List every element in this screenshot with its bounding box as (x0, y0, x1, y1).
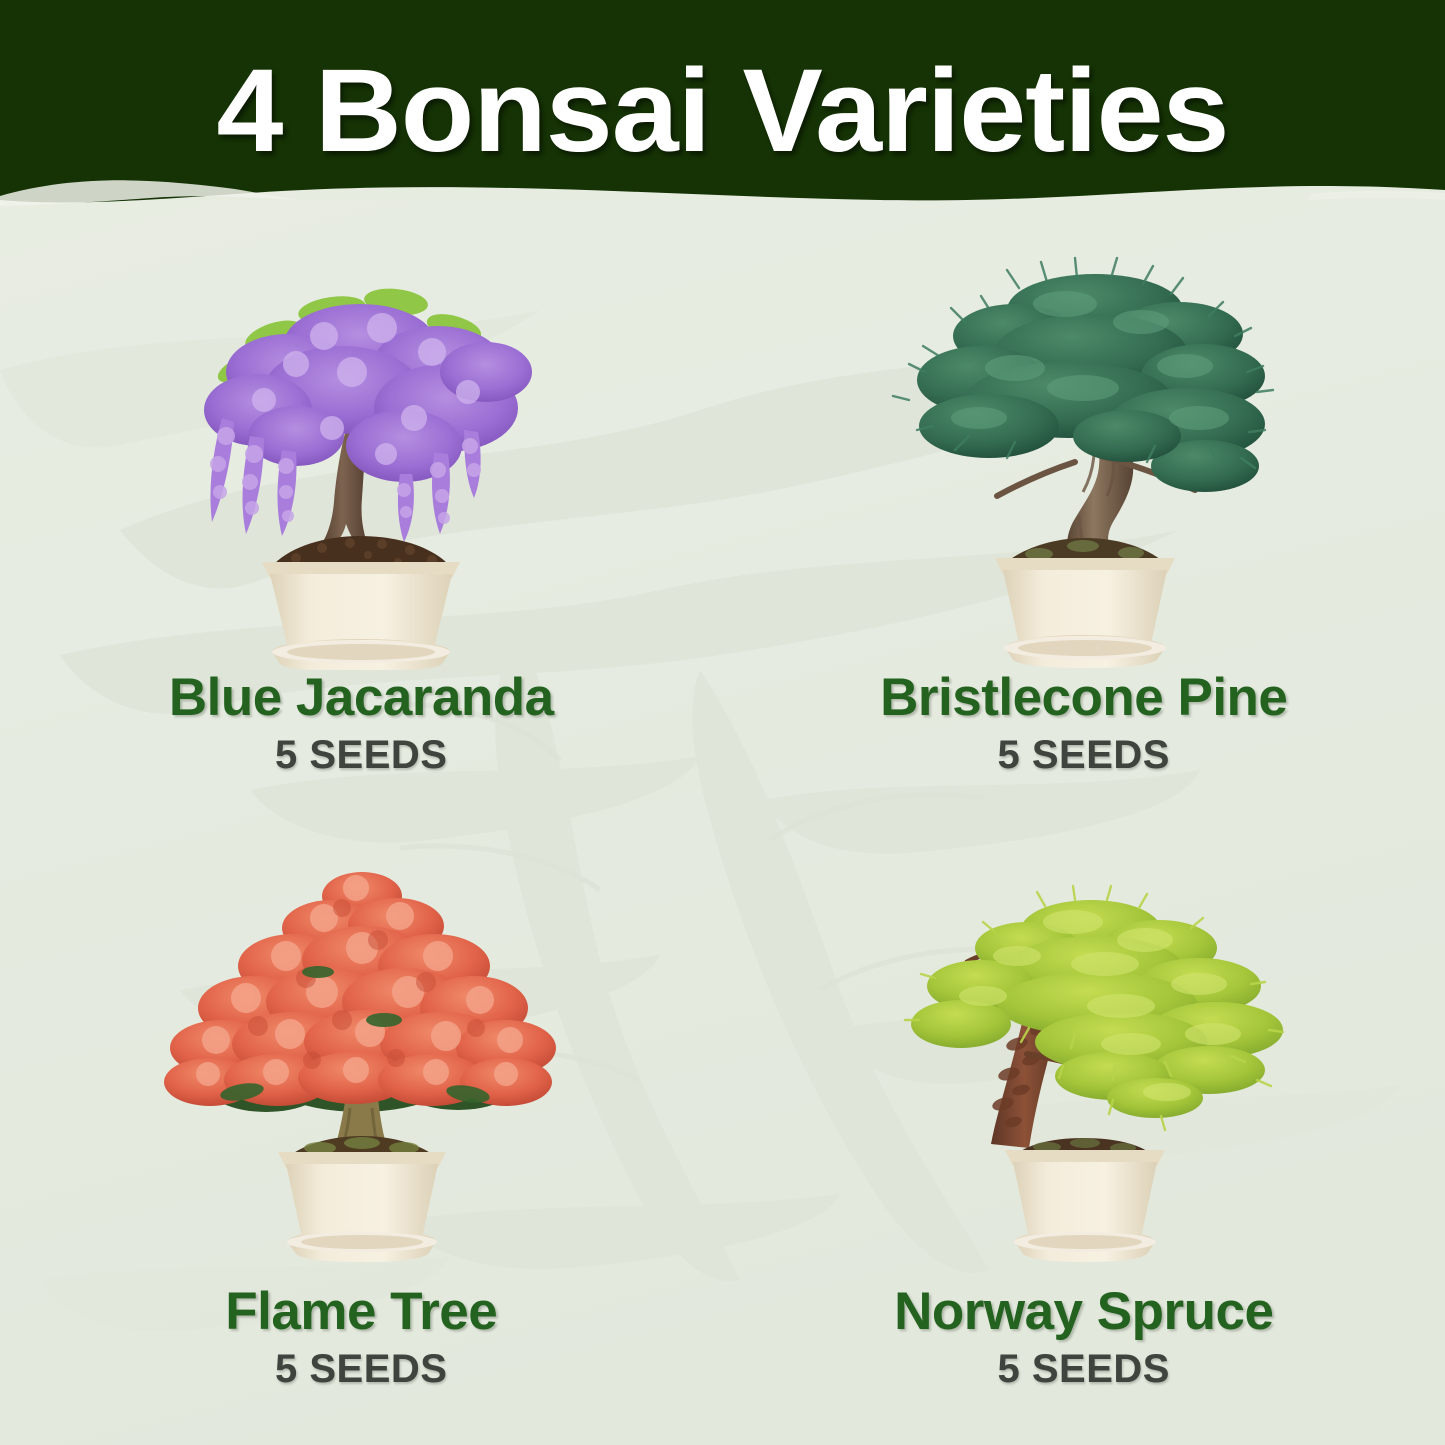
variety-card-bristlecone-pine[interactable]: Bristlecone Pine 5 SEEDS (723, 218, 1445, 832)
variety-card-norway-spruce[interactable]: Norway Spruce 5 SEEDS (723, 832, 1445, 1445)
variety-seed-count: 5 SEEDS (275, 1347, 447, 1392)
page-title: 4 Bonsai Varieties (0, 52, 1445, 170)
jacaranda-bonsai-image (146, 240, 576, 670)
flame-tree-image-stage (0, 832, 723, 1274)
variety-label: Blue Jacaranda (169, 670, 554, 725)
variety-seed-count: 5 SEEDS (275, 733, 447, 778)
norway-spruce-image-stage (723, 832, 1445, 1274)
varieties-grid: Blue Jacaranda 5 SEEDS (0, 218, 1445, 1445)
infographic-page: 4 Bonsai Varieties (0, 0, 1445, 1445)
variety-seed-count: 5 SEEDS (998, 733, 1170, 778)
flame-tree-bonsai-image (146, 844, 576, 1274)
variety-label: Flame Tree (225, 1284, 497, 1339)
variety-card-flame-tree[interactable]: Flame Tree 5 SEEDS (0, 832, 723, 1445)
variety-seed-count: 5 SEEDS (998, 1347, 1170, 1392)
variety-label: Norway Spruce (894, 1284, 1273, 1339)
variety-card-blue-jacaranda[interactable]: Blue Jacaranda 5 SEEDS (0, 218, 723, 832)
spruce-bonsai-image (869, 844, 1299, 1274)
variety-label: Bristlecone Pine (880, 670, 1287, 725)
bristlecone-pine-image-stage (723, 218, 1445, 670)
blue-jacaranda-image-stage (0, 218, 723, 670)
header-banner: 4 Bonsai Varieties (0, 0, 1445, 215)
pine-bonsai-image (869, 240, 1299, 670)
